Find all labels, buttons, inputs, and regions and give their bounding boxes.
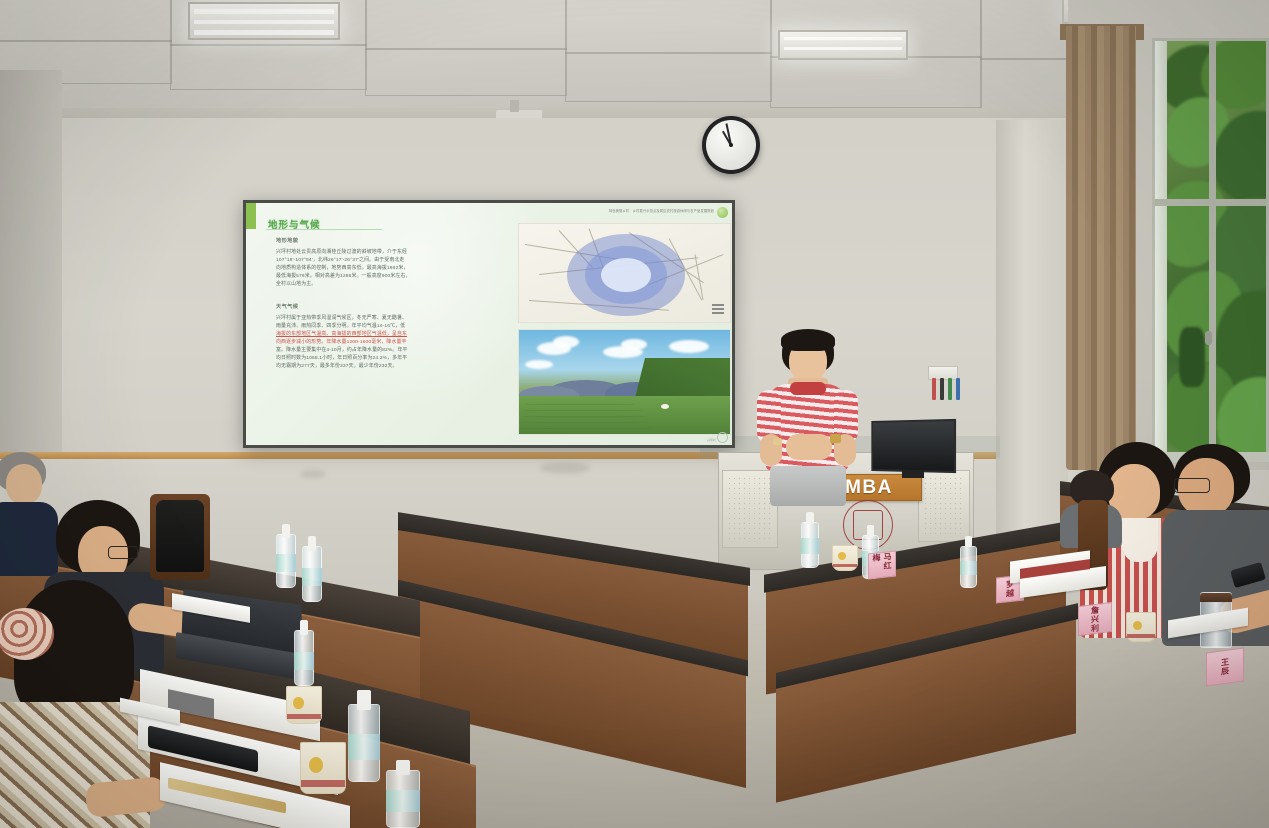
- slide-header-note: 特色美丽乡村 · 乡村振兴示范点及周边农村旅游休闲与农产品发展规划: [609, 208, 714, 213]
- monitor-stand: [902, 470, 924, 478]
- paper-cup[interactable]: [1126, 612, 1156, 642]
- name-placard-text: 王辰: [1220, 657, 1231, 677]
- slide-location-map: [518, 223, 731, 323]
- window: [1152, 38, 1269, 456]
- water-bottle[interactable]: [294, 620, 314, 686]
- slide-accent-bar: [246, 203, 256, 229]
- marker-green-icon[interactable]: [948, 378, 952, 400]
- marker-black-icon[interactable]: [940, 378, 944, 400]
- paper-cup[interactable]: [286, 686, 322, 724]
- slide-section1-line1: 兴坪村地处云贵高原向湘桂丘陵过渡的斜坡地带，介于东经: [276, 249, 472, 257]
- presenter-bracelet: [773, 438, 782, 445]
- slide-section2-line4: 向西逐步减小的形势。年降水量1200-1600毫米，降水量丰: [276, 339, 472, 347]
- slide-section2-line1: 兴坪村属于亚热带季风湿润气候区，冬无严寒、夏无酷暑、: [276, 315, 472, 323]
- slide-section1-heading: 地形地貌: [276, 237, 298, 244]
- slide-section1-line3: 向地质构造体系的控制，地势西高东低，最高海拔1862米，: [276, 265, 472, 273]
- chair-left-seatback[interactable]: [156, 500, 204, 572]
- wall-clock: [702, 116, 760, 174]
- name-placard: 詹兴利: [1078, 602, 1112, 636]
- slide-section2-line5: 富。降水量主要集中在4-10月，约占年降水量的82%。年平: [276, 347, 472, 355]
- eyeglasses-icon: [108, 546, 138, 559]
- name-placard: 马红梅: [868, 551, 896, 580]
- paper-cup[interactable]: [300, 742, 346, 794]
- projection-screen: 特色美丽乡村 · 乡村振兴示范点及周边农村旅游休闲与农产品发展规划 地形与气候 …: [243, 200, 735, 448]
- water-bottle[interactable]: [276, 524, 296, 588]
- water-bottle[interactable]: [348, 690, 380, 782]
- presenter-hands: [786, 434, 832, 460]
- marker-blue-icon[interactable]: [956, 378, 960, 400]
- slide-title-underline: [266, 229, 382, 230]
- eyeglasses-icon: [1174, 478, 1210, 493]
- meeting-room-photo: 特色美丽乡村 · 乡村振兴示范点及周边农村旅游休闲与农产品发展规划 地形与气候 …: [0, 0, 1269, 828]
- slide-section1-line2: 107°18'-107°54'，北纬26°17'-26°37'之间。由于受南北走: [276, 257, 472, 265]
- slide-logo-icon: [717, 207, 728, 218]
- window-handle[interactable]: [1205, 331, 1212, 345]
- water-bottle[interactable]: [801, 512, 819, 568]
- ceiling-light-panel: [778, 30, 908, 60]
- slide-footer-icon: [717, 432, 728, 443]
- name-placard-text: 马红梅: [871, 552, 893, 578]
- slide-section2-line2: 雨量充沛、雨热同季、四季分明。年平均气温14-16℃，低: [276, 323, 472, 331]
- screen-glare: [285, 203, 552, 421]
- presenter: [752, 330, 862, 505]
- water-bottle[interactable]: [960, 536, 977, 588]
- name-placard: 王辰: [1206, 647, 1244, 686]
- slide-surface: 特色美丽乡村 · 乡村振兴示范点及周边农村旅游休闲与农产品发展规划 地形与气候 …: [246, 203, 732, 445]
- slide-section2-heading: 天气气候: [276, 303, 298, 310]
- slide-section2-line7: 均无霜期为277天，最多年份337天，最少年份232天。: [276, 363, 472, 371]
- ceiling-light-panel: [188, 2, 340, 40]
- paper-cup[interactable]: [832, 545, 858, 571]
- slide-section2-line3: 海拔的东部地区气温高、高海拔的西部地区气温低，呈自东: [276, 331, 472, 339]
- slide-landscape-photo: [518, 329, 731, 435]
- window-curtain[interactable]: [1066, 26, 1136, 470]
- water-bottle[interactable]: [302, 536, 322, 602]
- name-placard-text: 詹兴利: [1090, 605, 1101, 633]
- slide-section2-line6: 均日照时数为1068.1小时，年日照百分率为24.2%，多年平: [276, 355, 472, 363]
- slide-footer-note: 兴坪村: [707, 438, 716, 442]
- podium-speaker-right: [918, 470, 970, 542]
- marker-red-icon[interactable]: [932, 378, 936, 400]
- water-bottle[interactable]: [386, 760, 420, 828]
- wall-column: [996, 120, 1068, 550]
- presenter-watch: [830, 434, 841, 443]
- podium-monitor: [871, 419, 956, 473]
- slide-section1-line4: 最低海拔576米。相对高差为1286米。一般高度900米左右，: [276, 273, 472, 281]
- slide-section1-line5: 全村以山地为主。: [276, 281, 472, 289]
